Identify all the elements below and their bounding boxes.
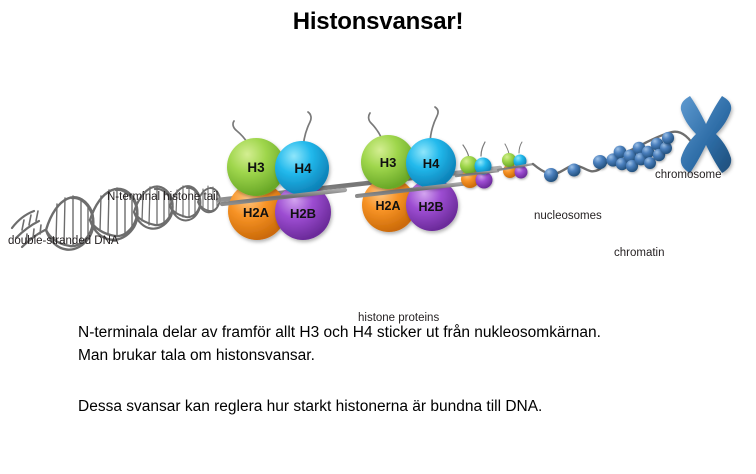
histone-label-h2b-1: H2B [290, 206, 316, 221]
histone-label-h3-2: H3 [380, 155, 397, 170]
nucleosome-beads [544, 155, 607, 182]
nucleosome-1: H3 H4 H2A H2B [222, 112, 345, 240]
body-paragraph-1: N-terminala delar av framför allt H3 och… [78, 322, 718, 368]
nucleosome-3 [456, 142, 498, 189]
label-nucleosomes: nucleosomes [534, 210, 602, 222]
histone-label-h2a-1: H2A [243, 205, 270, 220]
histone-diagram: H3 H4 H2A H2B [0, 78, 756, 268]
label-chromatin: chromatin [614, 247, 665, 259]
histone-label-h3-1: H3 [247, 160, 265, 175]
histone-label-h4-1: H4 [294, 161, 312, 176]
page-title: Histonsvansar! [0, 8, 756, 36]
label-chromosome: chromosome [655, 169, 721, 181]
nucleosome-2: H3 H4 H2A H2B [357, 107, 470, 232]
chromosome-shape [681, 96, 731, 173]
histone-label-h4-2: H4 [423, 156, 440, 171]
histone-label-h2a-2: H2A [375, 199, 400, 213]
body-paragraph-1-line-1: N-terminala delar av framför allt H3 och… [78, 322, 718, 344]
body-paragraph-1-line-2: Man brukar tala om histonsvansar. [78, 345, 718, 367]
body-paragraph-2: Dessa svansar kan reglera hur starkt his… [78, 396, 718, 418]
histone-label-h2b-2: H2B [418, 200, 443, 214]
label-double-stranded-dna: double-stranded DNA [8, 235, 119, 247]
slide-canvas: Histonsvansar! [0, 0, 756, 474]
chromatin-bead-cluster [606, 132, 674, 172]
nucleosome-4 [498, 142, 533, 179]
label-n-terminal-histone-tail: N-terminal histone tail [107, 191, 218, 203]
